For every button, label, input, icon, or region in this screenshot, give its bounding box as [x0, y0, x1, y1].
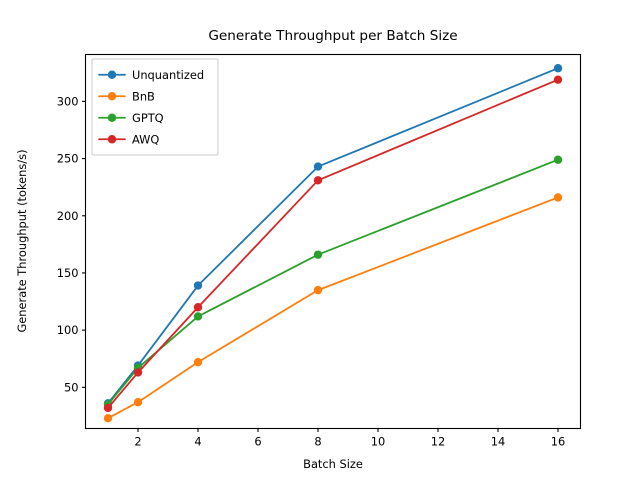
data-point [194, 312, 202, 320]
legend-marker-icon [108, 114, 116, 122]
data-point [314, 162, 322, 170]
legend-label: AWQ [132, 132, 159, 146]
data-point [194, 358, 202, 366]
data-point [554, 75, 562, 83]
y-tick-label: 300 [57, 94, 79, 108]
chart-legend[interactable]: UnquantizedBnBGPTQAWQ [92, 59, 218, 155]
data-point [104, 414, 112, 422]
y-tick-label: 250 [57, 152, 79, 166]
legend-label: Unquantized [132, 68, 204, 82]
y-tick-label: 200 [57, 209, 79, 223]
data-point [134, 398, 142, 406]
legend-label: GPTQ [132, 111, 164, 125]
y-tick-label: 150 [57, 266, 79, 280]
legend-marker-icon [108, 71, 116, 79]
x-tick-label: 4 [194, 435, 201, 449]
y-tick-label: 100 [57, 323, 79, 337]
x-tick-label: 16 [551, 435, 566, 449]
data-point [104, 404, 112, 412]
x-tick-label: 14 [491, 435, 506, 449]
legend-label: BnB [132, 89, 155, 103]
data-point [554, 156, 562, 164]
x-axis-label: Batch Size [303, 457, 363, 471]
x-tick-label: 6 [254, 435, 261, 449]
y-axis-label: Generate Throughput (tokens/s) [15, 149, 29, 332]
data-point [134, 368, 142, 376]
x-tick-label: 10 [371, 435, 386, 449]
legend-marker-icon [108, 135, 116, 143]
chart-title: Generate Throughput per Batch Size [208, 28, 457, 44]
data-point [194, 281, 202, 289]
x-tick-label: 8 [314, 435, 321, 449]
x-tick-label: 12 [431, 435, 446, 449]
data-point [314, 176, 322, 184]
data-point [554, 64, 562, 72]
chart-figure: Generate Throughput per Batch Size Gener… [0, 0, 640, 480]
data-point [194, 303, 202, 311]
y-tick-label: 50 [64, 380, 79, 394]
data-point [314, 250, 322, 258]
x-tick-label: 2 [134, 435, 141, 449]
line-chart-canvas: Generate Throughput per Batch Size Gener… [0, 0, 640, 480]
data-point [314, 286, 322, 294]
data-point [554, 193, 562, 201]
legend-marker-icon [108, 92, 116, 100]
